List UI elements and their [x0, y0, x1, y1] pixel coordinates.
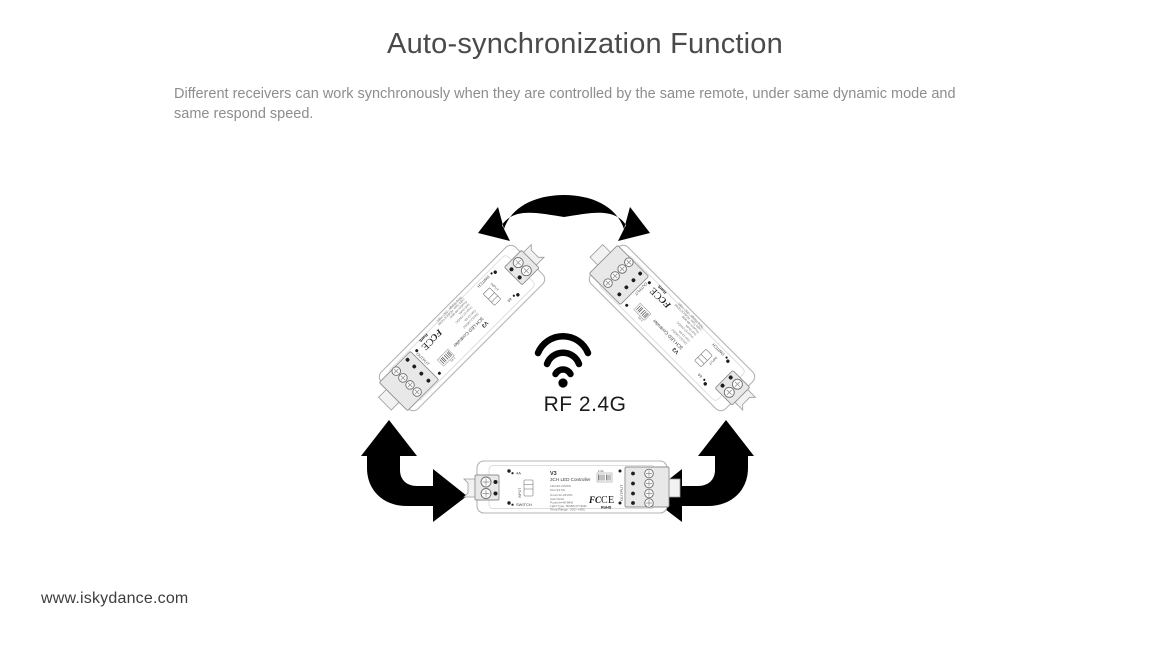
- arrow-top: [478, 195, 650, 241]
- footer-website-url: www.iskydance.com: [41, 590, 188, 608]
- wifi-icon: [538, 336, 588, 387]
- auto-sync-diagram: OUTPUT 4A SWITCH INPUT V3 3: [0, 0, 1170, 652]
- arrow-bottom-left: [361, 420, 467, 522]
- device-receiver-bottom: [464, 461, 680, 513]
- rf-protocol-label: RF 2.4G: [0, 393, 1170, 417]
